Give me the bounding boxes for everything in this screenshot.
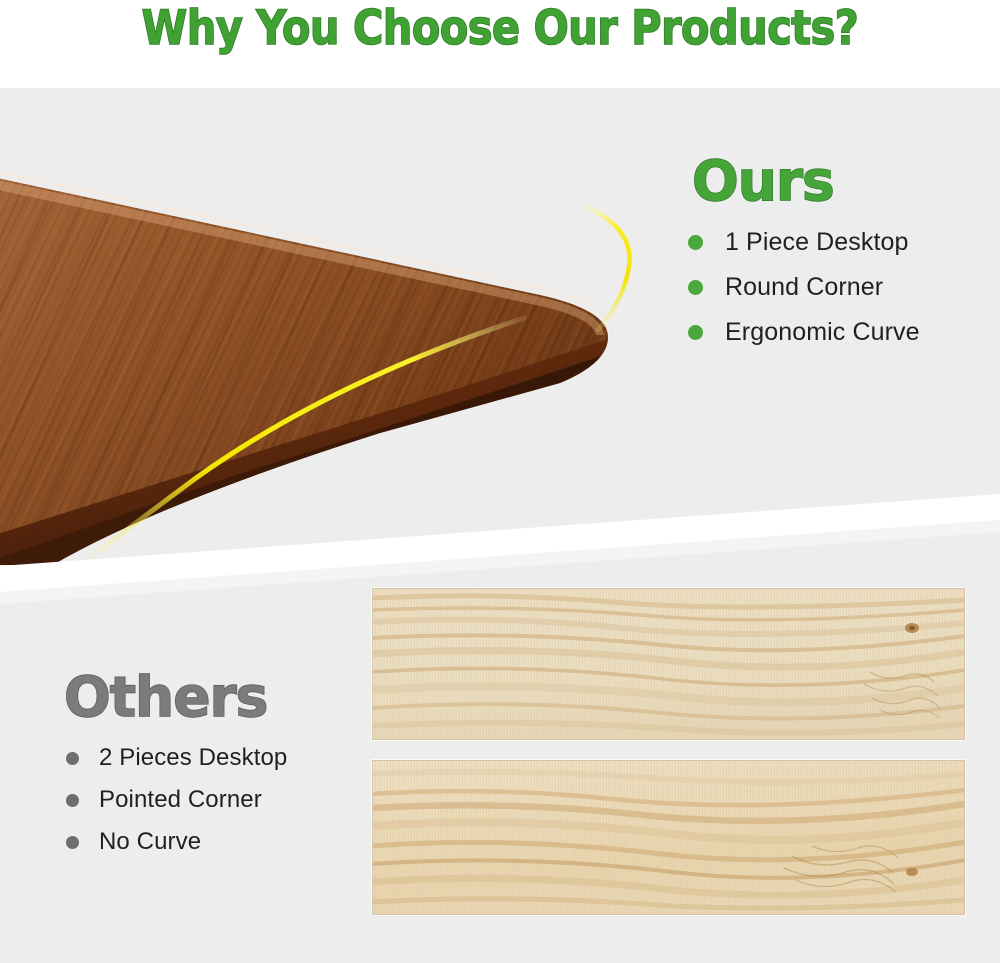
- bullet-icon: [688, 325, 703, 340]
- list-item: Round Corner: [688, 273, 988, 302]
- others-feature-label: No Curve: [99, 828, 201, 856]
- others-block: Others 2 Pieces Desktop Pointed Corner N…: [62, 668, 382, 870]
- bullet-icon: [66, 752, 79, 765]
- header-band: Why You Choose Our Products?: [0, 0, 1000, 88]
- list-item: 2 Pieces Desktop: [62, 744, 382, 772]
- comparison-infographic: Why You Choose Our Products?: [0, 0, 1000, 963]
- ours-feature-label: Ergonomic Curve: [725, 318, 920, 347]
- bullet-icon: [66, 794, 79, 807]
- pine-plank-image-bottom: [372, 760, 965, 915]
- ours-feature-label: 1 Piece Desktop: [725, 228, 909, 257]
- list-item: 1 Piece Desktop: [688, 228, 988, 257]
- list-item: No Curve: [62, 828, 382, 856]
- ours-feature-label: Round Corner: [725, 273, 883, 302]
- bullet-icon: [688, 235, 703, 250]
- list-item: Ergonomic Curve: [688, 318, 988, 347]
- pine-plank-image-top: [372, 588, 965, 740]
- others-heading: Others: [64, 668, 382, 726]
- page-title: Why You Choose Our Products?: [60, 0, 940, 60]
- others-feature-label: Pointed Corner: [99, 786, 262, 814]
- walnut-desktop-image: [0, 95, 660, 565]
- ours-feature-list: 1 Piece Desktop Round Corner Ergonomic C…: [688, 228, 988, 347]
- others-feature-label: 2 Pieces Desktop: [99, 744, 287, 772]
- ours-heading: Ours: [692, 152, 988, 210]
- list-item: Pointed Corner: [62, 786, 382, 814]
- others-feature-list: 2 Pieces Desktop Pointed Corner No Curve: [62, 744, 382, 856]
- bullet-icon: [66, 836, 79, 849]
- bullet-icon: [688, 280, 703, 295]
- ours-block: Ours 1 Piece Desktop Round Corner Ergono…: [688, 152, 988, 363]
